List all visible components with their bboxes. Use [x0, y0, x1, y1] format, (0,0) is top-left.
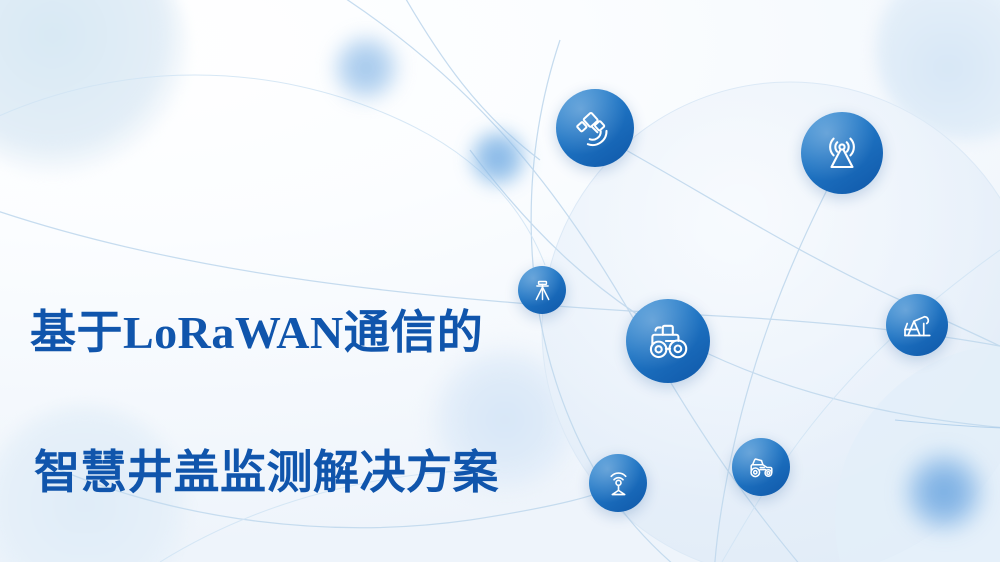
node-oil-pumpjack[interactable]	[886, 294, 948, 356]
page-title: 基于LoRaWAN通信的 智慧井盖监测解决方案	[30, 228, 570, 562]
satellite-icon	[572, 105, 618, 151]
node-harvester-vehicle[interactable]	[732, 438, 790, 496]
slide-canvas: 基于LoRaWAN通信的 智慧井盖监测解决方案	[0, 0, 1000, 562]
oil-pumpjack-icon	[899, 307, 935, 343]
node-satellite[interactable]	[556, 89, 634, 167]
node-tractor[interactable]	[626, 299, 710, 383]
title-line-2: 智慧井盖监测解决方案	[30, 438, 570, 508]
title-line-1: 基于LoRaWAN通信的	[30, 298, 570, 368]
node-antenna-tower[interactable]	[801, 112, 883, 194]
tractor-icon	[643, 316, 693, 366]
antenna-tower-icon	[818, 129, 866, 177]
node-wireless-sensor[interactable]	[589, 454, 647, 512]
wireless-sensor-icon	[602, 467, 635, 500]
harvester-vehicle-icon	[745, 451, 778, 484]
